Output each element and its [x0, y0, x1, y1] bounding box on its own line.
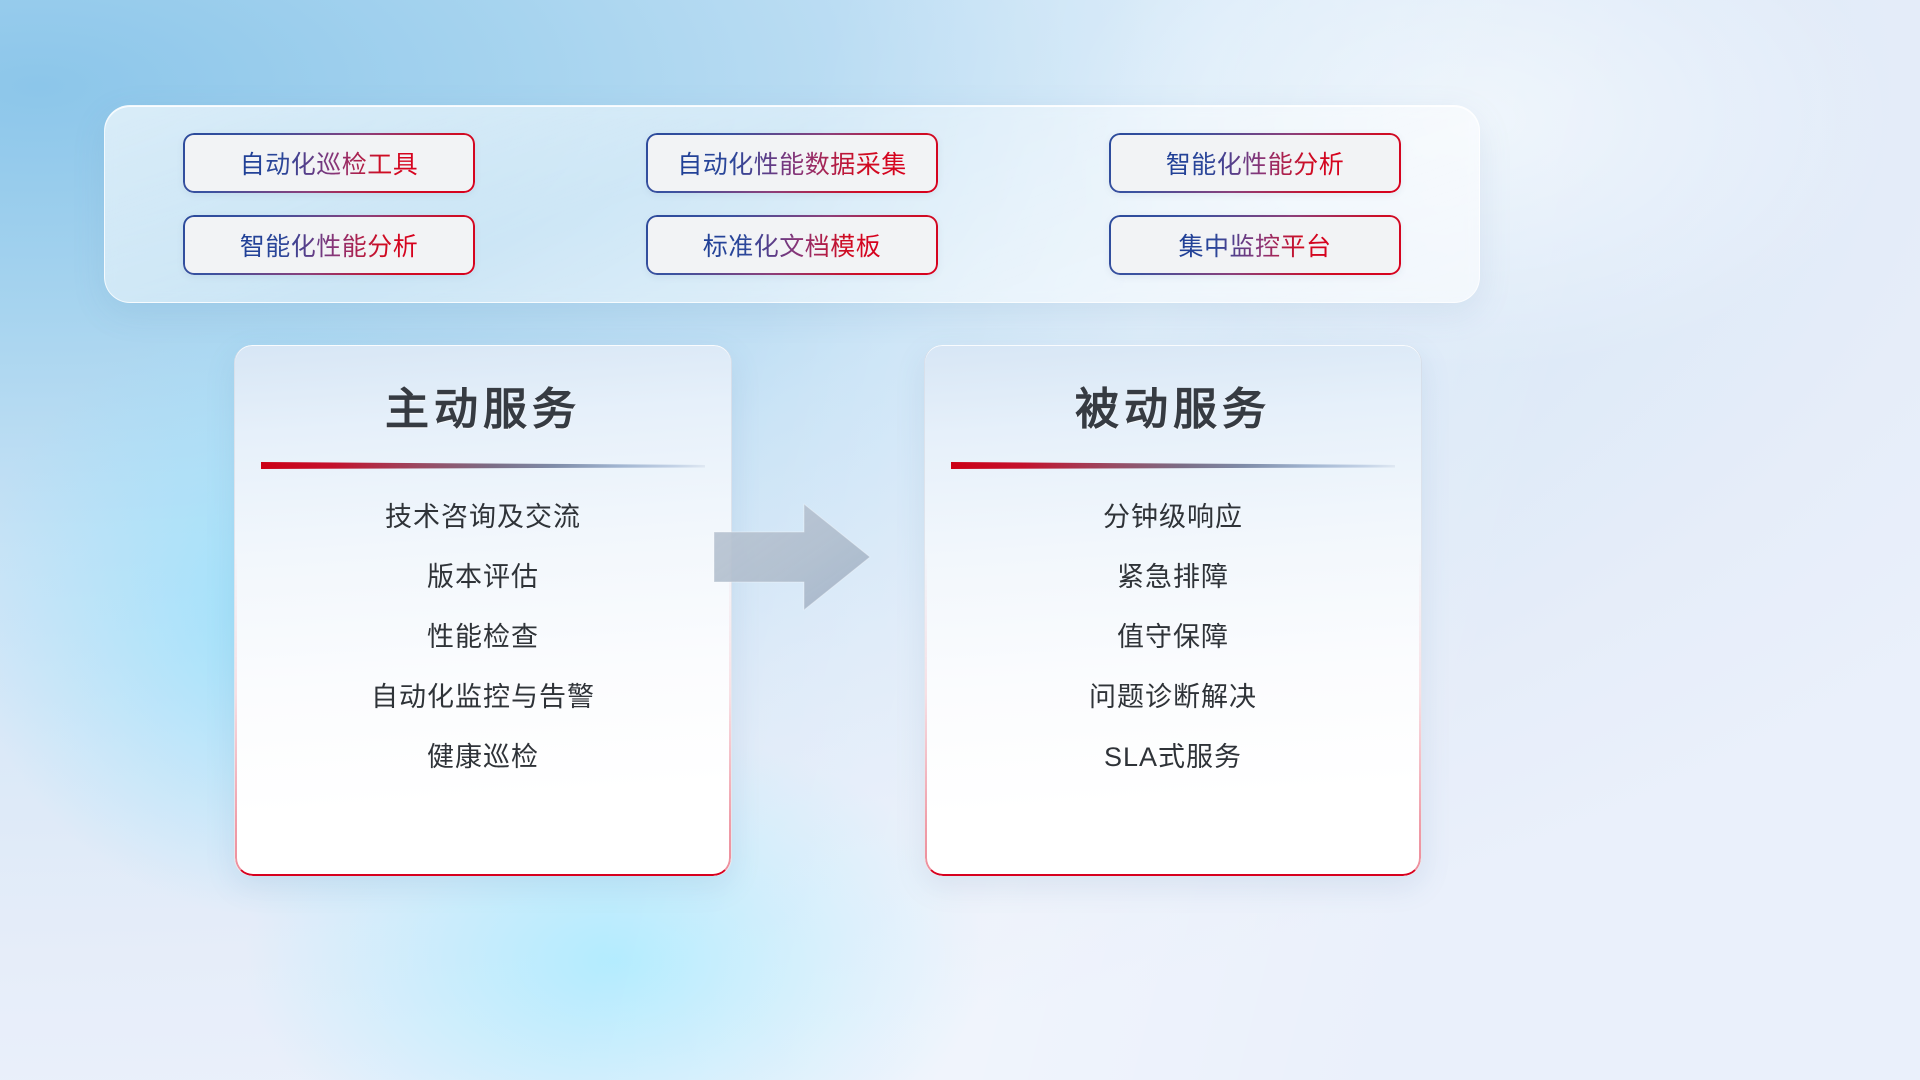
- capability-pill-automated-inspection-tool[interactable]: 自动化巡检工具: [183, 133, 475, 193]
- capability-pill-label: 自动化巡检工具: [240, 145, 419, 181]
- list-item: 紧急排障: [1117, 555, 1229, 594]
- service-card-proactive: 主动服务 技术咨询及交流 版本评估 性能检查 自动化监控与告警 健康巡检: [234, 345, 732, 876]
- capability-pill-label: 集中监控平台: [1178, 227, 1331, 263]
- card-title: 被动服务: [925, 373, 1421, 437]
- list-item: 问题诊断解决: [1089, 675, 1257, 714]
- card-divider: [951, 459, 1395, 473]
- capabilities-panel: 自动化巡检工具 自动化性能数据采集 智能化性能分析 智能化性能分析 标准化文档模…: [104, 105, 1480, 303]
- list-item: 值守保障: [1117, 615, 1229, 654]
- service-list: 分钟级响应 紧急排障 值守保障 问题诊断解决 SLA式服务: [925, 495, 1421, 774]
- card-divider: [261, 459, 705, 473]
- capability-pill-intelligent-performance-analysis[interactable]: 智能化性能分析: [1109, 133, 1401, 193]
- list-item: 版本评估: [427, 555, 539, 594]
- service-list: 技术咨询及交流 版本评估 性能检查 自动化监控与告警 健康巡检: [235, 495, 731, 774]
- capabilities-row-1: 自动化巡检工具 自动化性能数据采集 智能化性能分析: [183, 133, 1401, 193]
- capabilities-row-2: 智能化性能分析 标准化文档模板 集中监控平台: [183, 215, 1401, 275]
- capability-pill-label: 智能化性能分析: [1166, 145, 1345, 181]
- list-item: 自动化监控与告警: [371, 675, 595, 714]
- capability-pill-label: 智能化性能分析: [240, 227, 419, 263]
- gradient-rule: [951, 462, 1395, 469]
- capability-pill-automated-performance-data-collection[interactable]: 自动化性能数据采集: [646, 133, 938, 193]
- list-item: 性能检查: [427, 615, 539, 654]
- service-card-reactive: 被动服务 分钟级响应 紧急排障 值守保障 问题诊断解决 SLA式服务: [924, 345, 1422, 876]
- list-item: 技术咨询及交流: [385, 495, 581, 534]
- list-item: 分钟级响应: [1103, 495, 1243, 534]
- card-title: 主动服务: [235, 373, 731, 437]
- capability-pill-intelligent-performance-analysis-2[interactable]: 智能化性能分析: [183, 215, 475, 275]
- capability-pill-label: 标准化文档模板: [703, 227, 882, 263]
- capability-pill-centralized-monitoring-platform[interactable]: 集中监控平台: [1109, 215, 1401, 275]
- gradient-rule: [261, 462, 705, 469]
- list-item: 健康巡检: [427, 735, 539, 774]
- capability-pill-label: 自动化性能数据采集: [677, 145, 907, 181]
- list-item: SLA式服务: [1104, 735, 1242, 774]
- capability-pill-standardized-document-template[interactable]: 标准化文档模板: [646, 215, 938, 275]
- arrow-right-icon: [712, 502, 872, 612]
